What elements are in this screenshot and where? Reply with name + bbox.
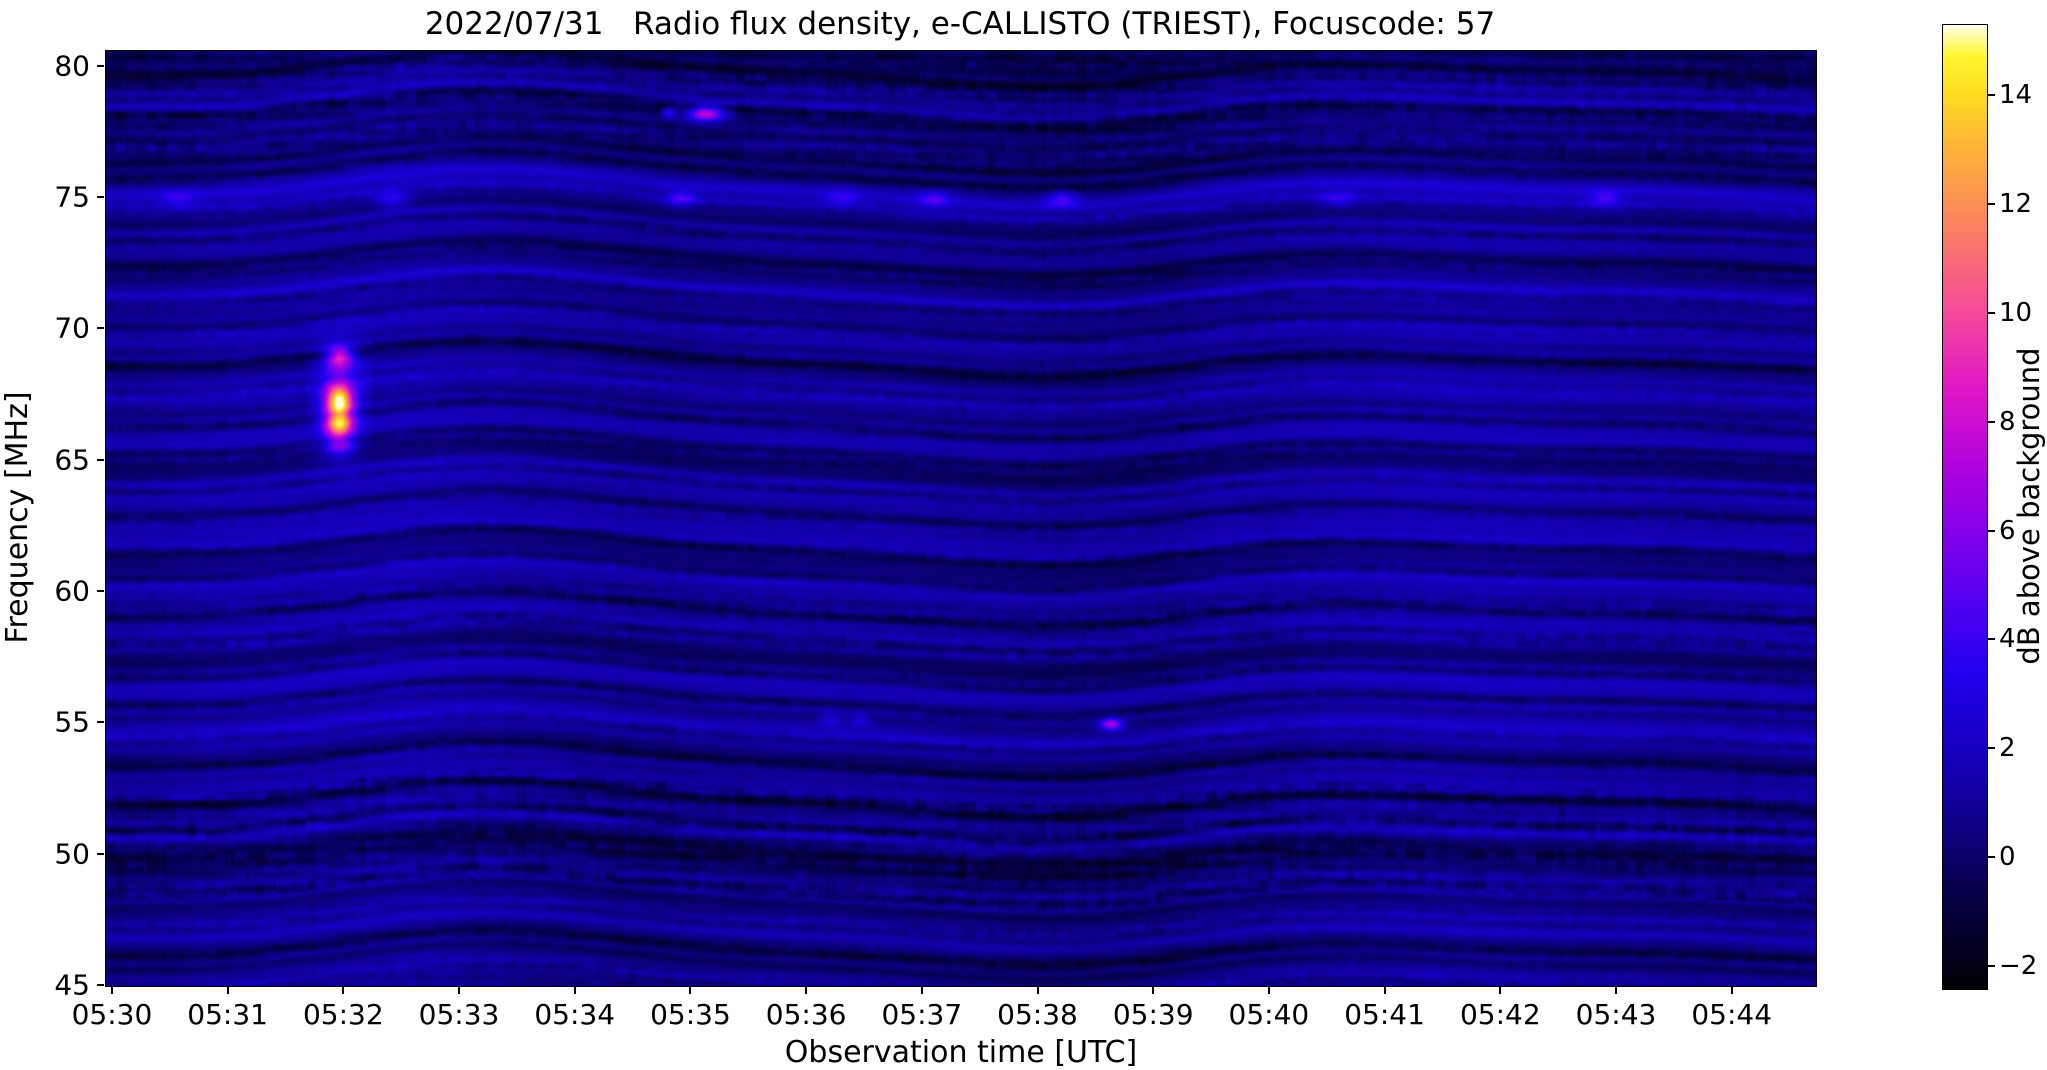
colorbar-tick-mark: [1988, 203, 1995, 205]
x-tick-mark: [1268, 987, 1270, 994]
chart-title: 2022/07/31 Radio flux density, e-CALLIST…: [0, 6, 1920, 42]
x-tick-mark: [342, 987, 344, 994]
y-tick-mark: [97, 459, 104, 461]
x-axis-label: Observation time [UTC]: [105, 1035, 1817, 1070]
y-tick-mark: [97, 721, 104, 723]
y-tick-mark: [97, 984, 104, 986]
colorbar-tick-mark: [1988, 312, 1995, 314]
x-tick-label: 05:40: [1229, 998, 1310, 1031]
colorbar-tick-mark: [1988, 421, 1995, 423]
y-axis-label: Frequency [MHz]: [0, 50, 34, 985]
x-tick-label: 05:37: [881, 998, 962, 1031]
x-tick-mark: [1152, 987, 1154, 994]
x-tick-mark: [689, 987, 691, 994]
colorbar[interactable]: [1942, 24, 1988, 990]
colorbar-tick-mark: [1988, 965, 1995, 967]
x-tick-label: 05:38: [997, 998, 1078, 1031]
x-tick-label: 05:35: [650, 998, 731, 1031]
colorbar-tick-mark: [1988, 530, 1995, 532]
y-tick-mark: [97, 853, 104, 855]
x-tick-label: 05:39: [1113, 998, 1194, 1031]
x-tick-label: 05:44: [1691, 998, 1772, 1031]
x-tick-mark: [458, 987, 460, 994]
x-tick-label: 05:34: [534, 998, 615, 1031]
y-tick-mark: [97, 327, 104, 329]
x-tick-mark: [574, 987, 576, 994]
x-tick-label: 05:30: [72, 998, 153, 1031]
x-tick-label: 05:41: [1344, 998, 1425, 1031]
x-tick-mark: [1384, 987, 1386, 994]
colorbar-tick-mark: [1988, 747, 1995, 749]
colorbar-label: dB above background: [2012, 24, 2046, 988]
x-tick-label: 05:43: [1576, 998, 1657, 1031]
x-tick-label: 05:36: [766, 998, 847, 1031]
y-tick-mark: [97, 590, 104, 592]
x-tick-mark: [1615, 987, 1617, 994]
colorbar-tick-mark: [1988, 638, 1995, 640]
x-tick-mark: [1499, 987, 1501, 994]
colorbar-tick-mark: [1988, 94, 1995, 96]
spectrogram-image: [106, 51, 1816, 986]
spectrogram-plot-area[interactable]: [105, 50, 1817, 987]
x-tick-mark: [805, 987, 807, 994]
x-tick-label: 05:32: [303, 998, 384, 1031]
x-tick-label: 05:31: [187, 998, 268, 1031]
x-tick-label: 05:33: [419, 998, 500, 1031]
colorbar-gradient: [1943, 25, 1987, 989]
y-tick-mark: [97, 65, 104, 67]
figure-canvas: 2022/07/31 Radio flux density, e-CALLIST…: [0, 0, 2047, 1067]
x-tick-mark: [111, 987, 113, 994]
y-tick-mark: [97, 196, 104, 198]
x-tick-mark: [227, 987, 229, 994]
x-tick-mark: [1037, 987, 1039, 994]
x-tick-mark: [1731, 987, 1733, 994]
colorbar-tick-mark: [1988, 856, 1995, 858]
x-tick-mark: [921, 987, 923, 994]
x-tick-label: 05:42: [1460, 998, 1541, 1031]
